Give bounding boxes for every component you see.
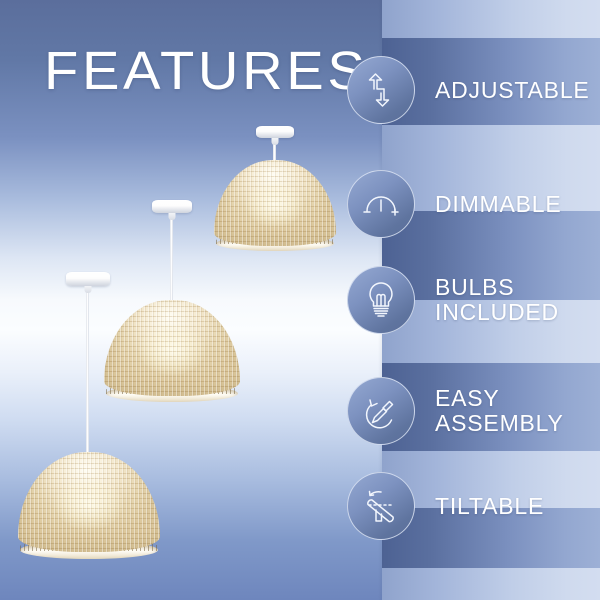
feature-label: EASY ASSEMBLY: [435, 386, 564, 436]
panel-band: [382, 0, 600, 38]
up-down-arrows-icon: [347, 56, 415, 124]
woven-dome-shade: [18, 452, 160, 552]
feature-label: TILTABLE: [435, 494, 544, 519]
feature-label: ADJUSTABLE: [435, 78, 590, 103]
light-bulb-icon: [347, 266, 415, 334]
feature-row-bulbs-included[interactable]: BULBS INCLUDED: [347, 266, 559, 334]
ceiling-canopy: [66, 272, 110, 286]
dimmer-dial-icon: [347, 170, 415, 238]
feature-row-easy-assembly[interactable]: EASY ASSEMBLY: [347, 377, 564, 445]
screwdriver-rotate-icon: [347, 377, 415, 445]
feature-label: DIMMABLE: [435, 192, 562, 217]
feature-row-dimmable[interactable]: DIMMABLE: [347, 170, 562, 238]
panel-band: [382, 568, 600, 600]
feature-row-adjustable[interactable]: ADJUSTABLE: [347, 56, 590, 124]
page-title: FEATURES: [44, 44, 369, 98]
feature-row-tiltable[interactable]: TILTABLE: [347, 472, 544, 540]
feature-label: BULBS INCLUDED: [435, 275, 559, 325]
shade-ribs-layer: [18, 452, 160, 552]
lamp-cord: [86, 286, 89, 458]
infographic-canvas: FEATURES ADJUSTABLEDIMMABLEBULBS INCLUDE…: [0, 0, 600, 600]
tilt-angle-icon: [347, 472, 415, 540]
